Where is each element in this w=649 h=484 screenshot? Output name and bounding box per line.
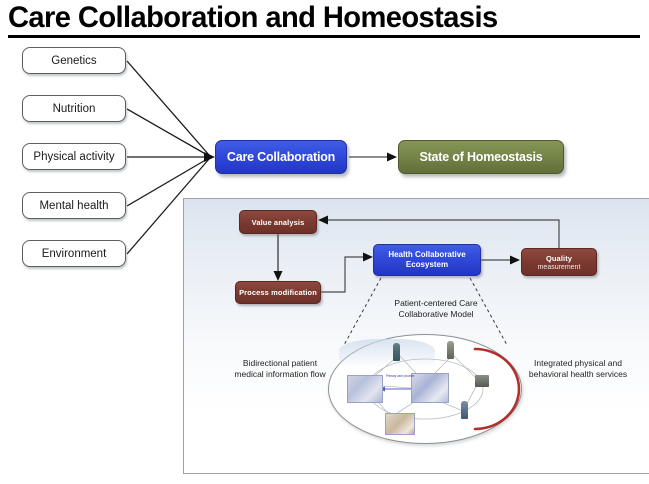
caption-line1: Integrated physical and <box>512 358 644 369</box>
network-micro-label: Primary care provider <box>386 374 414 378</box>
caption-line2: medical information flow <box>218 369 342 380</box>
box-label: Value analysis <box>252 218 305 227</box>
care-network-ellipse <box>328 334 522 444</box>
factor-label: Genetics <box>51 55 96 67</box>
box-process-modification[interactable]: Process modification <box>235 281 321 304</box>
photo-family <box>385 413 415 435</box>
node-label: State of Homeostasis <box>419 150 542 164</box>
caption-bidirectional-flow: Bidirectional patient medical informatio… <box>218 358 342 380</box>
factor-label: Nutrition <box>53 103 96 115</box>
photo-patient <box>411 373 449 403</box>
node-care-collaboration[interactable]: Care Collaboration <box>215 140 347 174</box>
box-label: Process modification <box>239 288 317 297</box>
box-value-analysis[interactable]: Value analysis <box>239 210 317 234</box>
factor-box-genetics[interactable]: Genetics <box>22 47 126 74</box>
caption-line2: Collaborative Model <box>370 309 502 320</box>
box-quality-measurement[interactable]: Quality measurement <box>521 248 597 276</box>
caption-line2: behavioral health services <box>512 369 644 380</box>
caption-patient-centered-model: Patient-centered Care Collaborative Mode… <box>370 298 502 320</box>
node-label: Care Collaboration <box>227 150 335 164</box>
factor-box-physical-activity[interactable]: Physical activity <box>22 143 126 170</box>
node-state-of-homeostasis[interactable]: State of Homeostasis <box>398 140 564 174</box>
box-label-line2: measurement <box>538 264 581 271</box>
photo-care-team <box>347 375 383 403</box>
figure-clinician-bottom-right <box>461 401 468 419</box>
box-label-line1: Quality <box>546 254 572 263</box>
page-title: Care Collaboration and Homeostasis <box>8 2 640 38</box>
box-health-collaborative-ecosystem[interactable]: Health Collaborative Ecosystem <box>373 244 481 276</box>
title-underline <box>8 35 640 38</box>
caption-line1: Bidirectional patient <box>218 358 342 369</box>
eco-label-line1: Health Collaborative <box>388 250 465 260</box>
figure-facility-icon <box>475 375 489 387</box>
factor-label: Environment <box>42 248 107 260</box>
page-title-text: Care Collaboration and Homeostasis <box>8 2 621 34</box>
caption-line1: Patient-centered Care <box>370 298 502 309</box>
factor-box-environment[interactable]: Environment <box>22 240 126 267</box>
eco-label-line2: Ecosystem <box>406 260 448 270</box>
factor-box-mental-health[interactable]: Mental health <box>22 192 126 219</box>
figure-clinician-top-right <box>447 341 454 359</box>
factor-label: Physical activity <box>33 151 114 163</box>
figure-clinician-top-left <box>393 343 400 361</box>
factor-label: Mental health <box>39 200 108 212</box>
factor-box-nutrition[interactable]: Nutrition <box>22 95 126 122</box>
caption-integrated-services: Integrated physical and behavioral healt… <box>512 358 644 380</box>
slide-canvas: Care Collaboration and Homeostasis Genet… <box>0 0 649 484</box>
